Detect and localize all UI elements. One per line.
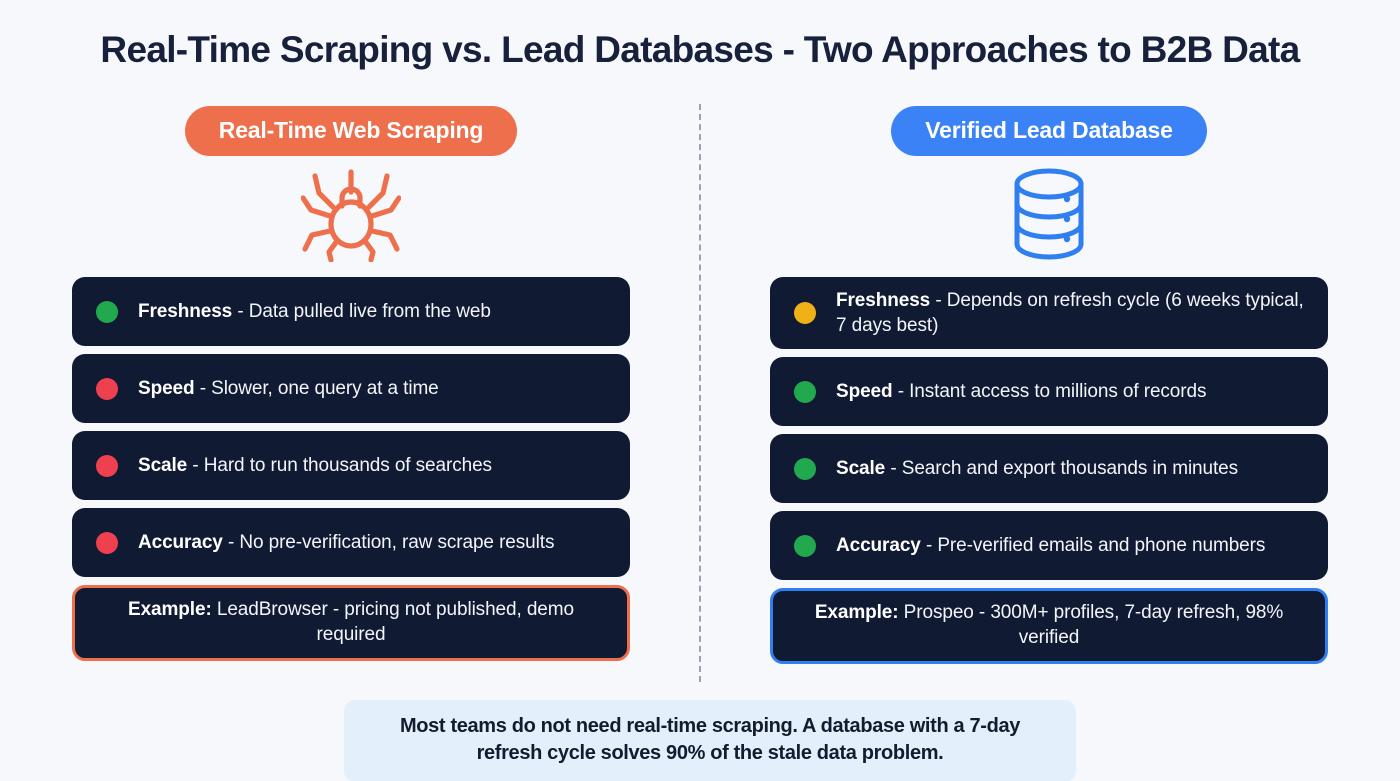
feature-card-freshness-right[interactable]: Freshness - Depends on refresh cycle (6 … [770, 277, 1328, 349]
pill-wrapper-left: Real-Time Web Scraping [72, 106, 630, 156]
feature-card-scale-left[interactable]: Scale - Hard to run thousands of searche… [72, 431, 630, 500]
example-description: Prospeo - 300M+ profiles, 7-day refresh,… [899, 602, 1284, 648]
feature-card-text: Speed - Instant access to millions of re… [836, 379, 1206, 404]
feature-description: - Data pulled live from the web [232, 301, 491, 322]
feature-card-speed-right[interactable]: Speed - Instant access to millions of re… [770, 357, 1328, 426]
feature-card-text: Scale - Search and export thousands in m… [836, 456, 1238, 481]
feature-card-freshness-left[interactable]: Freshness - Data pulled live from the we… [72, 277, 630, 346]
status-dot-good [794, 381, 816, 403]
feature-description: - Pre-verified emails and phone numbers [921, 535, 1266, 556]
feature-card-accuracy-left[interactable]: Accuracy - No pre-verification, raw scra… [72, 508, 630, 577]
status-dot-bad [96, 532, 118, 554]
status-dot-good [794, 535, 816, 557]
feature-card-text: Scale - Hard to run thousands of searche… [138, 453, 492, 478]
status-dot-warning [794, 302, 816, 324]
example-card-right[interactable]: Example: Prospeo - 300M+ profiles, 7-day… [770, 588, 1328, 663]
feature-label: Speed [836, 381, 893, 402]
feature-label: Freshness [836, 290, 930, 311]
database-icon [1007, 166, 1091, 267]
feature-label: Accuracy [138, 532, 223, 553]
page-title: Real-Time Scraping vs. Lead Databases - … [0, 29, 1400, 71]
column-header-pill-scraping[interactable]: Real-Time Web Scraping [185, 106, 517, 156]
column-verified-lead-database: Verified Lead Database Freshness - Depen… [770, 106, 1328, 664]
feature-card-speed-left[interactable]: Speed - Slower, one query at a time [72, 354, 630, 423]
feature-label: Speed [138, 378, 195, 399]
feature-label: Scale [836, 458, 885, 479]
feature-card-text: Freshness - Data pulled live from the we… [138, 299, 491, 324]
icon-area-right [770, 158, 1328, 274]
column-header-pill-database[interactable]: Verified Lead Database [891, 106, 1206, 156]
pill-wrapper-right: Verified Lead Database [770, 106, 1328, 156]
example-label: Example: [128, 599, 212, 620]
feature-card-text: Freshness - Depends on refresh cycle (6 … [836, 288, 1308, 338]
column-real-time-web-scraping: Real-Time Web Scraping [72, 106, 630, 661]
feature-label: Scale [138, 455, 187, 476]
feature-card-text: Accuracy - Pre-verified emails and phone… [836, 533, 1265, 558]
summary-callout: Most teams do not need real-time scrapin… [344, 700, 1076, 781]
feature-card-list-left: Freshness - Data pulled live from the we… [72, 277, 630, 577]
feature-description: - No pre-verification, raw scrape result… [223, 532, 555, 553]
icon-area-left [72, 158, 630, 274]
spider-icon [301, 166, 401, 267]
status-dot-bad [96, 378, 118, 400]
summary-callout-text: Most teams do not need real-time scrapin… [370, 713, 1050, 767]
column-divider [699, 104, 701, 682]
feature-description: - Hard to run thousands of searches [187, 455, 492, 476]
feature-label: Accuracy [836, 535, 921, 556]
feature-label: Freshness [138, 301, 232, 322]
feature-card-scale-right[interactable]: Scale - Search and export thousands in m… [770, 434, 1328, 503]
feature-description: - Search and export thousands in minutes [885, 458, 1238, 479]
status-dot-good [794, 458, 816, 480]
example-description: LeadBrowser - pricing not published, dem… [212, 599, 574, 645]
example-card-text: Example: Prospeo - 300M+ profiles, 7-day… [795, 601, 1303, 650]
feature-card-text: Speed - Slower, one query at a time [138, 376, 439, 401]
status-dot-bad [96, 455, 118, 477]
example-label: Example: [815, 602, 899, 623]
feature-card-list-right: Freshness - Depends on refresh cycle (6 … [770, 277, 1328, 580]
example-card-left[interactable]: Example: LeadBrowser - pricing not publi… [72, 585, 630, 660]
status-dot-good [96, 301, 118, 323]
example-card-text: Example: LeadBrowser - pricing not publi… [97, 598, 605, 647]
feature-description: - Instant access to millions of records [893, 381, 1207, 402]
feature-card-accuracy-right[interactable]: Accuracy - Pre-verified emails and phone… [770, 511, 1328, 580]
feature-card-text: Accuracy - No pre-verification, raw scra… [138, 530, 554, 555]
feature-description: - Slower, one query at a time [195, 378, 439, 399]
